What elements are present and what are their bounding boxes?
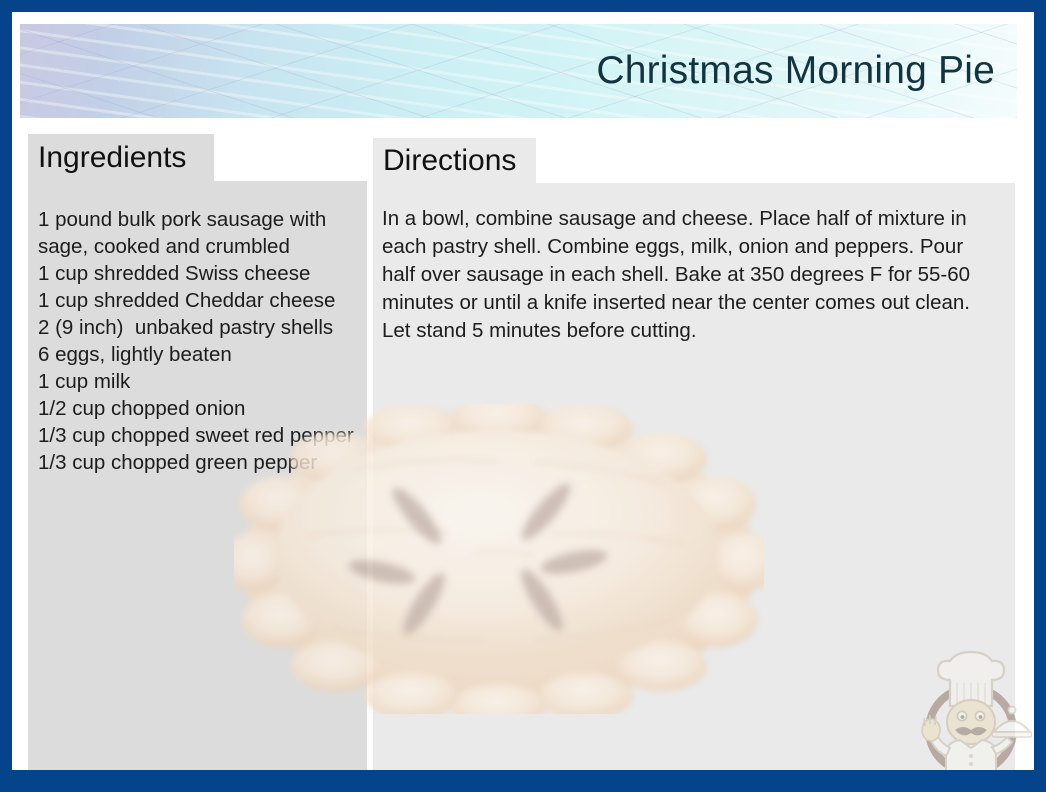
tab-directions[interactable]: Directions <box>373 138 536 183</box>
directions-paragraph: In a bowl, combine sausage and cheese. P… <box>382 205 1001 345</box>
ingredients-panel: 1 pound bulk pork sausage with sage, coo… <box>28 181 367 770</box>
slide-page: Christmas Morning Pie Ingredients 1 poun… <box>12 12 1034 770</box>
tab-ingredients[interactable]: Ingredients <box>28 134 214 181</box>
directions-panel: In a bowl, combine sausage and cheese. P… <box>373 183 1015 770</box>
tab-directions-label: Directions <box>383 146 516 176</box>
title-banner: Christmas Morning Pie <box>20 24 1017 118</box>
slide-canvas: Christmas Morning Pie Ingredients 1 poun… <box>0 0 1046 792</box>
ingredients-list: 1 pound bulk pork sausage with sage, coo… <box>38 206 355 476</box>
page-title: Christmas Morning Pie <box>596 49 995 93</box>
tab-ingredients-label: Ingredients <box>38 143 186 173</box>
